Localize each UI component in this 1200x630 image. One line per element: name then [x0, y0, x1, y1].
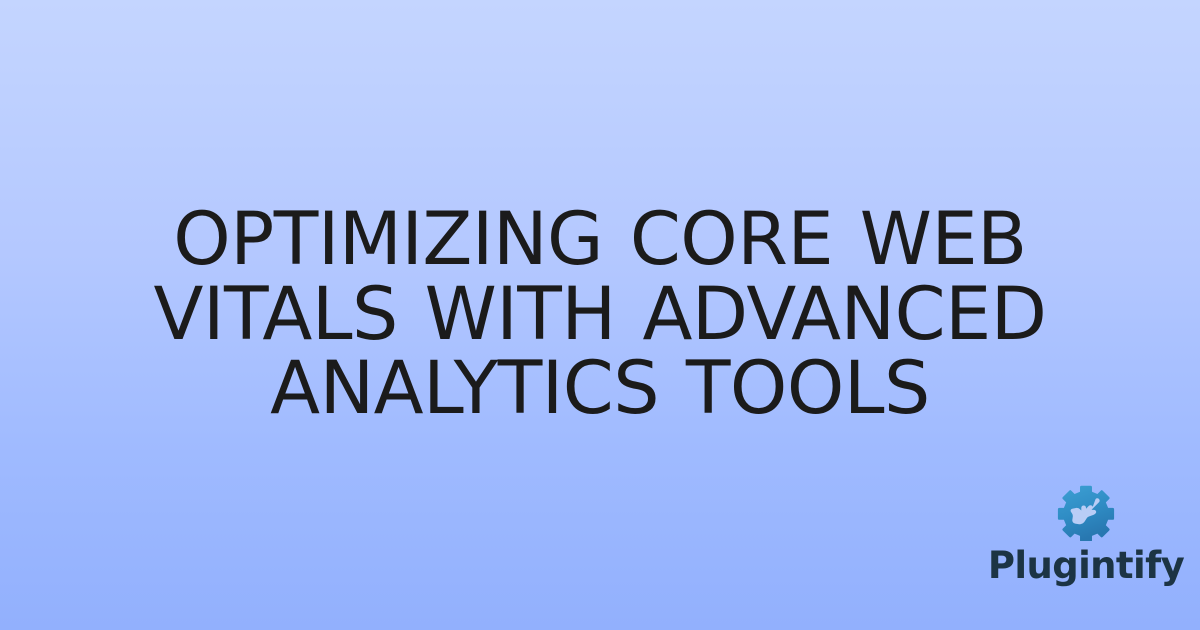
page-title: Optimizing Core Web Vitals With Advanced…	[96, 203, 1104, 426]
gear-plug-icon	[1057, 483, 1115, 541]
social-share-banner: Optimizing Core Web Vitals With Advanced…	[0, 0, 1200, 630]
brand-wordmark: Plugintify	[988, 547, 1184, 584]
brand-logo: Plugintify	[980, 483, 1192, 584]
